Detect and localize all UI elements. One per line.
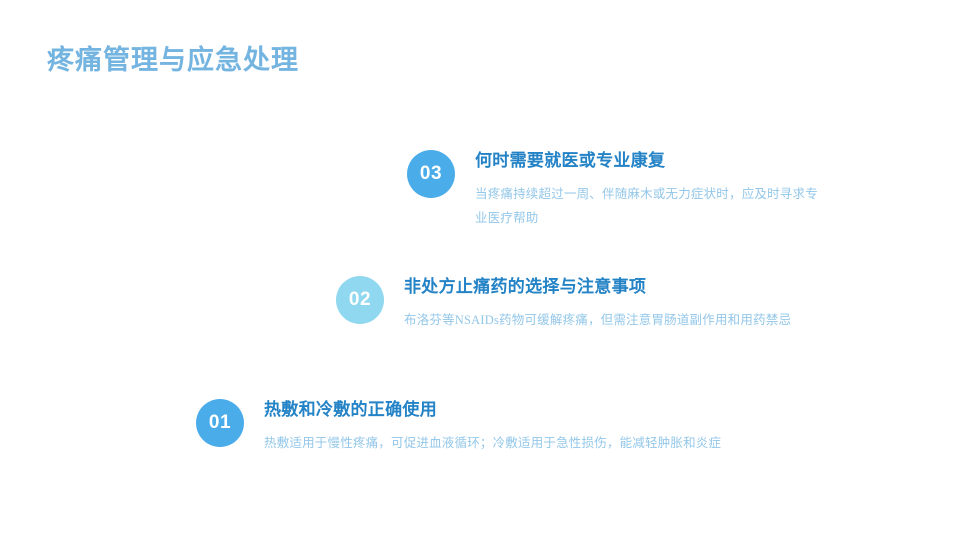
step-list: 03 何时需要就医或专业康复 当疼痛持续超过一周、伴随麻木或无力症状时，应及时寻… xyxy=(0,0,960,540)
step-heading-01: 热敷和冷敷的正确使用 xyxy=(264,399,824,422)
step-content-01: 热敷和冷敷的正确使用 热敷适用于慢性疼痛，可促进血液循环；冷敷适用于急性损伤，能… xyxy=(264,399,824,455)
step-number-badge-03: 03 xyxy=(407,150,455,198)
step-number-badge-01: 01 xyxy=(196,399,244,447)
step-content-02: 非处方止痛药的选择与注意事项 布洛芬等NSAIDs药物可缓解疼痛，但需注意胃肠道… xyxy=(404,276,792,332)
slide-canvas: 疼痛管理与应急处理 03 何时需要就医或专业康复 当疼痛持续超过一周、伴随麻木或… xyxy=(0,0,960,540)
step-description-03: 当疼痛持续超过一周、伴随麻木或无力症状时，应及时寻求专业医疗帮助 xyxy=(475,182,827,231)
step-item-02[interactable]: 02 非处方止痛药的选择与注意事项 布洛芬等NSAIDs药物可缓解疼痛，但需注意… xyxy=(336,276,836,332)
step-description-01: 热敷适用于慢性疼痛，可促进血液循环；冷敷适用于急性损伤，能减轻肿胀和炎症 xyxy=(264,431,824,455)
step-number-badge-02: 02 xyxy=(336,276,384,324)
step-description-02: 布洛芬等NSAIDs药物可缓解疼痛，但需注意胃肠道副作用和用药禁忌 xyxy=(404,308,792,332)
step-heading-02: 非处方止痛药的选择与注意事项 xyxy=(404,276,792,299)
step-heading-03: 何时需要就医或专业康复 xyxy=(475,150,827,173)
step-content-03: 何时需要就医或专业康复 当疼痛持续超过一周、伴随麻木或无力症状时，应及时寻求专业… xyxy=(475,150,827,231)
step-item-01[interactable]: 01 热敷和冷敷的正确使用 热敷适用于慢性疼痛，可促进血液循环；冷敷适用于急性损… xyxy=(196,399,796,455)
step-item-03[interactable]: 03 何时需要就医或专业康复 当疼痛持续超过一周、伴随麻木或无力症状时，应及时寻… xyxy=(407,150,877,231)
